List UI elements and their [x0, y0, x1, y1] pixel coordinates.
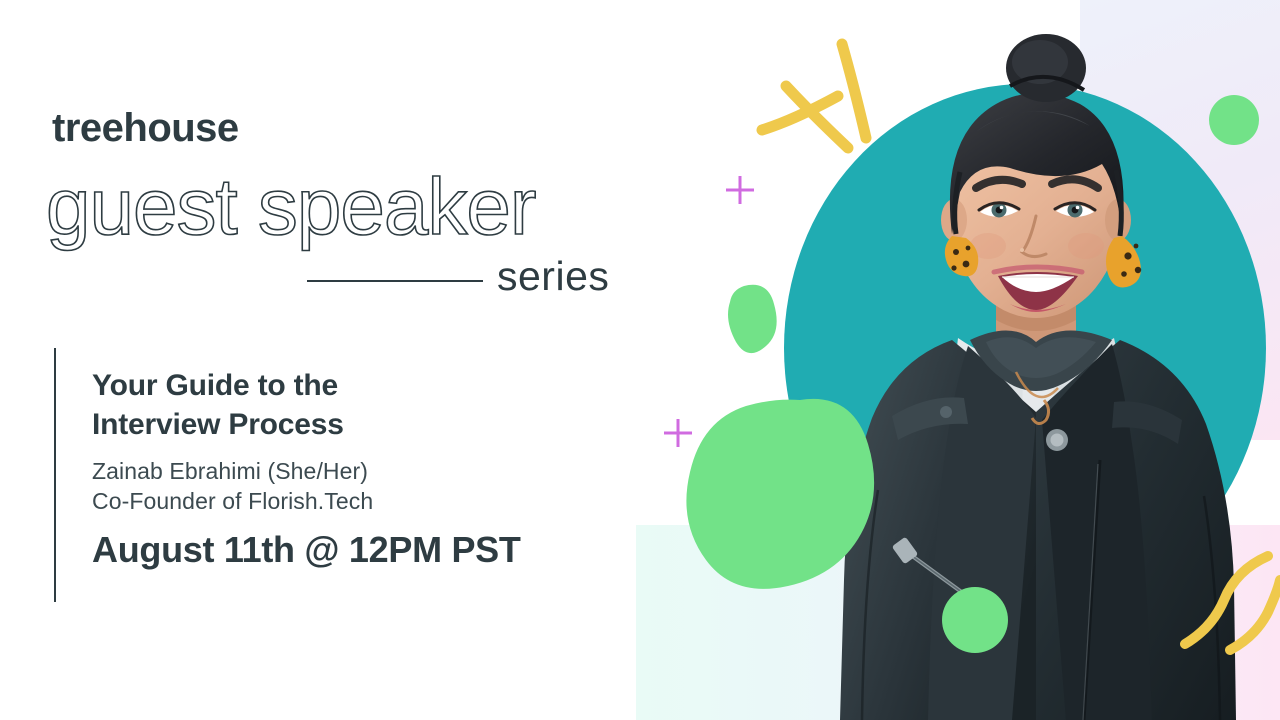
series-divider	[307, 280, 483, 282]
brand-wordmark: treehouse	[52, 108, 239, 148]
speaker-role: Co-Founder of Florish.Tech	[92, 486, 632, 516]
info-accent-rule	[54, 348, 56, 602]
talk-title-line-2: Interview Process	[92, 408, 344, 441]
speaker-name: Zainab Ebrahimi (She/Her)	[92, 456, 632, 486]
magenta-plus-icon	[664, 419, 692, 447]
svg-text:guest speaker: guest speaker	[46, 162, 536, 251]
event-datetime: August 11th @ 12PM PST	[92, 529, 632, 570]
earring-right	[1106, 236, 1141, 288]
talk-title-line-1: Your Guide to the	[92, 369, 338, 402]
talk-title: Your Guide to the Interview Process	[92, 366, 632, 444]
session-info-block: Your Guide to the Interview Process Zain…	[92, 366, 632, 570]
green-blob-small-shape	[728, 285, 777, 353]
speaker-portrait	[800, 20, 1270, 720]
headline-outline-text: guest speaker	[40, 158, 660, 258]
promo-slide: treehouse guest speaker series Your Guid…	[0, 0, 1280, 720]
series-label: series	[497, 256, 609, 297]
magenta-plus-icon	[726, 176, 754, 204]
